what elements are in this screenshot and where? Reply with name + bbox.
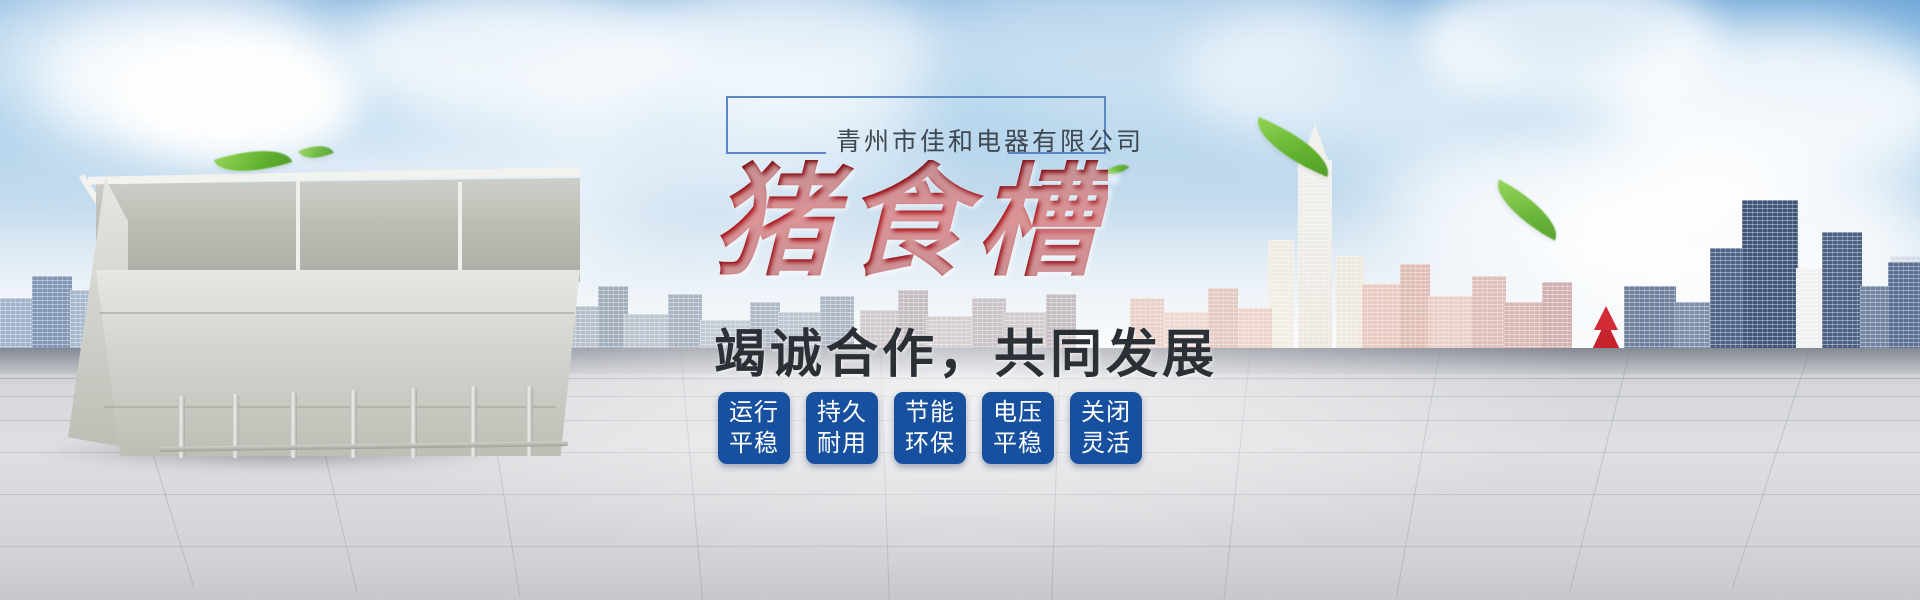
feature-badge-line1: 节能 — [905, 397, 955, 428]
company-name-frame: 青州市佳和电器有限公司 — [708, 96, 1106, 156]
frame-top-line — [726, 96, 1106, 98]
banner-subtitle: 竭诚合作，共同发展 — [714, 312, 1218, 387]
feature-badge-line1: 关闭 — [1081, 397, 1131, 428]
feature-badge-line2: 耐用 — [817, 428, 867, 459]
promo-banner: 青州市佳和电器有限公司 猪食槽 竭诚合作，共同发展 运行 平稳 持久 耐用 节能… — [0, 0, 1920, 600]
feature-badge[interactable]: 节能 环保 — [894, 392, 966, 464]
feature-badge-line2: 环保 — [905, 428, 955, 459]
feature-badge-line2: 平稳 — [729, 428, 779, 459]
feature-badge[interactable]: 持久 耐用 — [806, 392, 878, 464]
banner-copy: 青州市佳和电器有限公司 猪食槽 竭诚合作，共同发展 运行 平稳 持久 耐用 节能… — [700, 96, 1320, 566]
feature-badge-line1: 电压 — [993, 397, 1043, 428]
feature-badge-list: 运行 平稳 持久 耐用 节能 环保 电压 平稳 关闭 灵活 — [718, 392, 1142, 464]
feature-badge-line2: 灵活 — [1081, 428, 1131, 459]
feature-badge-line1: 运行 — [729, 397, 779, 428]
feature-badge[interactable]: 电压 平稳 — [982, 392, 1054, 464]
feature-badge-line2: 平稳 — [993, 428, 1043, 459]
frame-left-line — [726, 96, 728, 154]
feature-badge[interactable]: 关闭 灵活 — [1070, 392, 1142, 464]
feature-badge-line1: 持久 — [817, 397, 867, 428]
product-image-pig-trough — [60, 160, 580, 460]
page-title: 猪食槽 — [712, 160, 1108, 282]
feature-badge[interactable]: 运行 平稳 — [718, 392, 790, 464]
